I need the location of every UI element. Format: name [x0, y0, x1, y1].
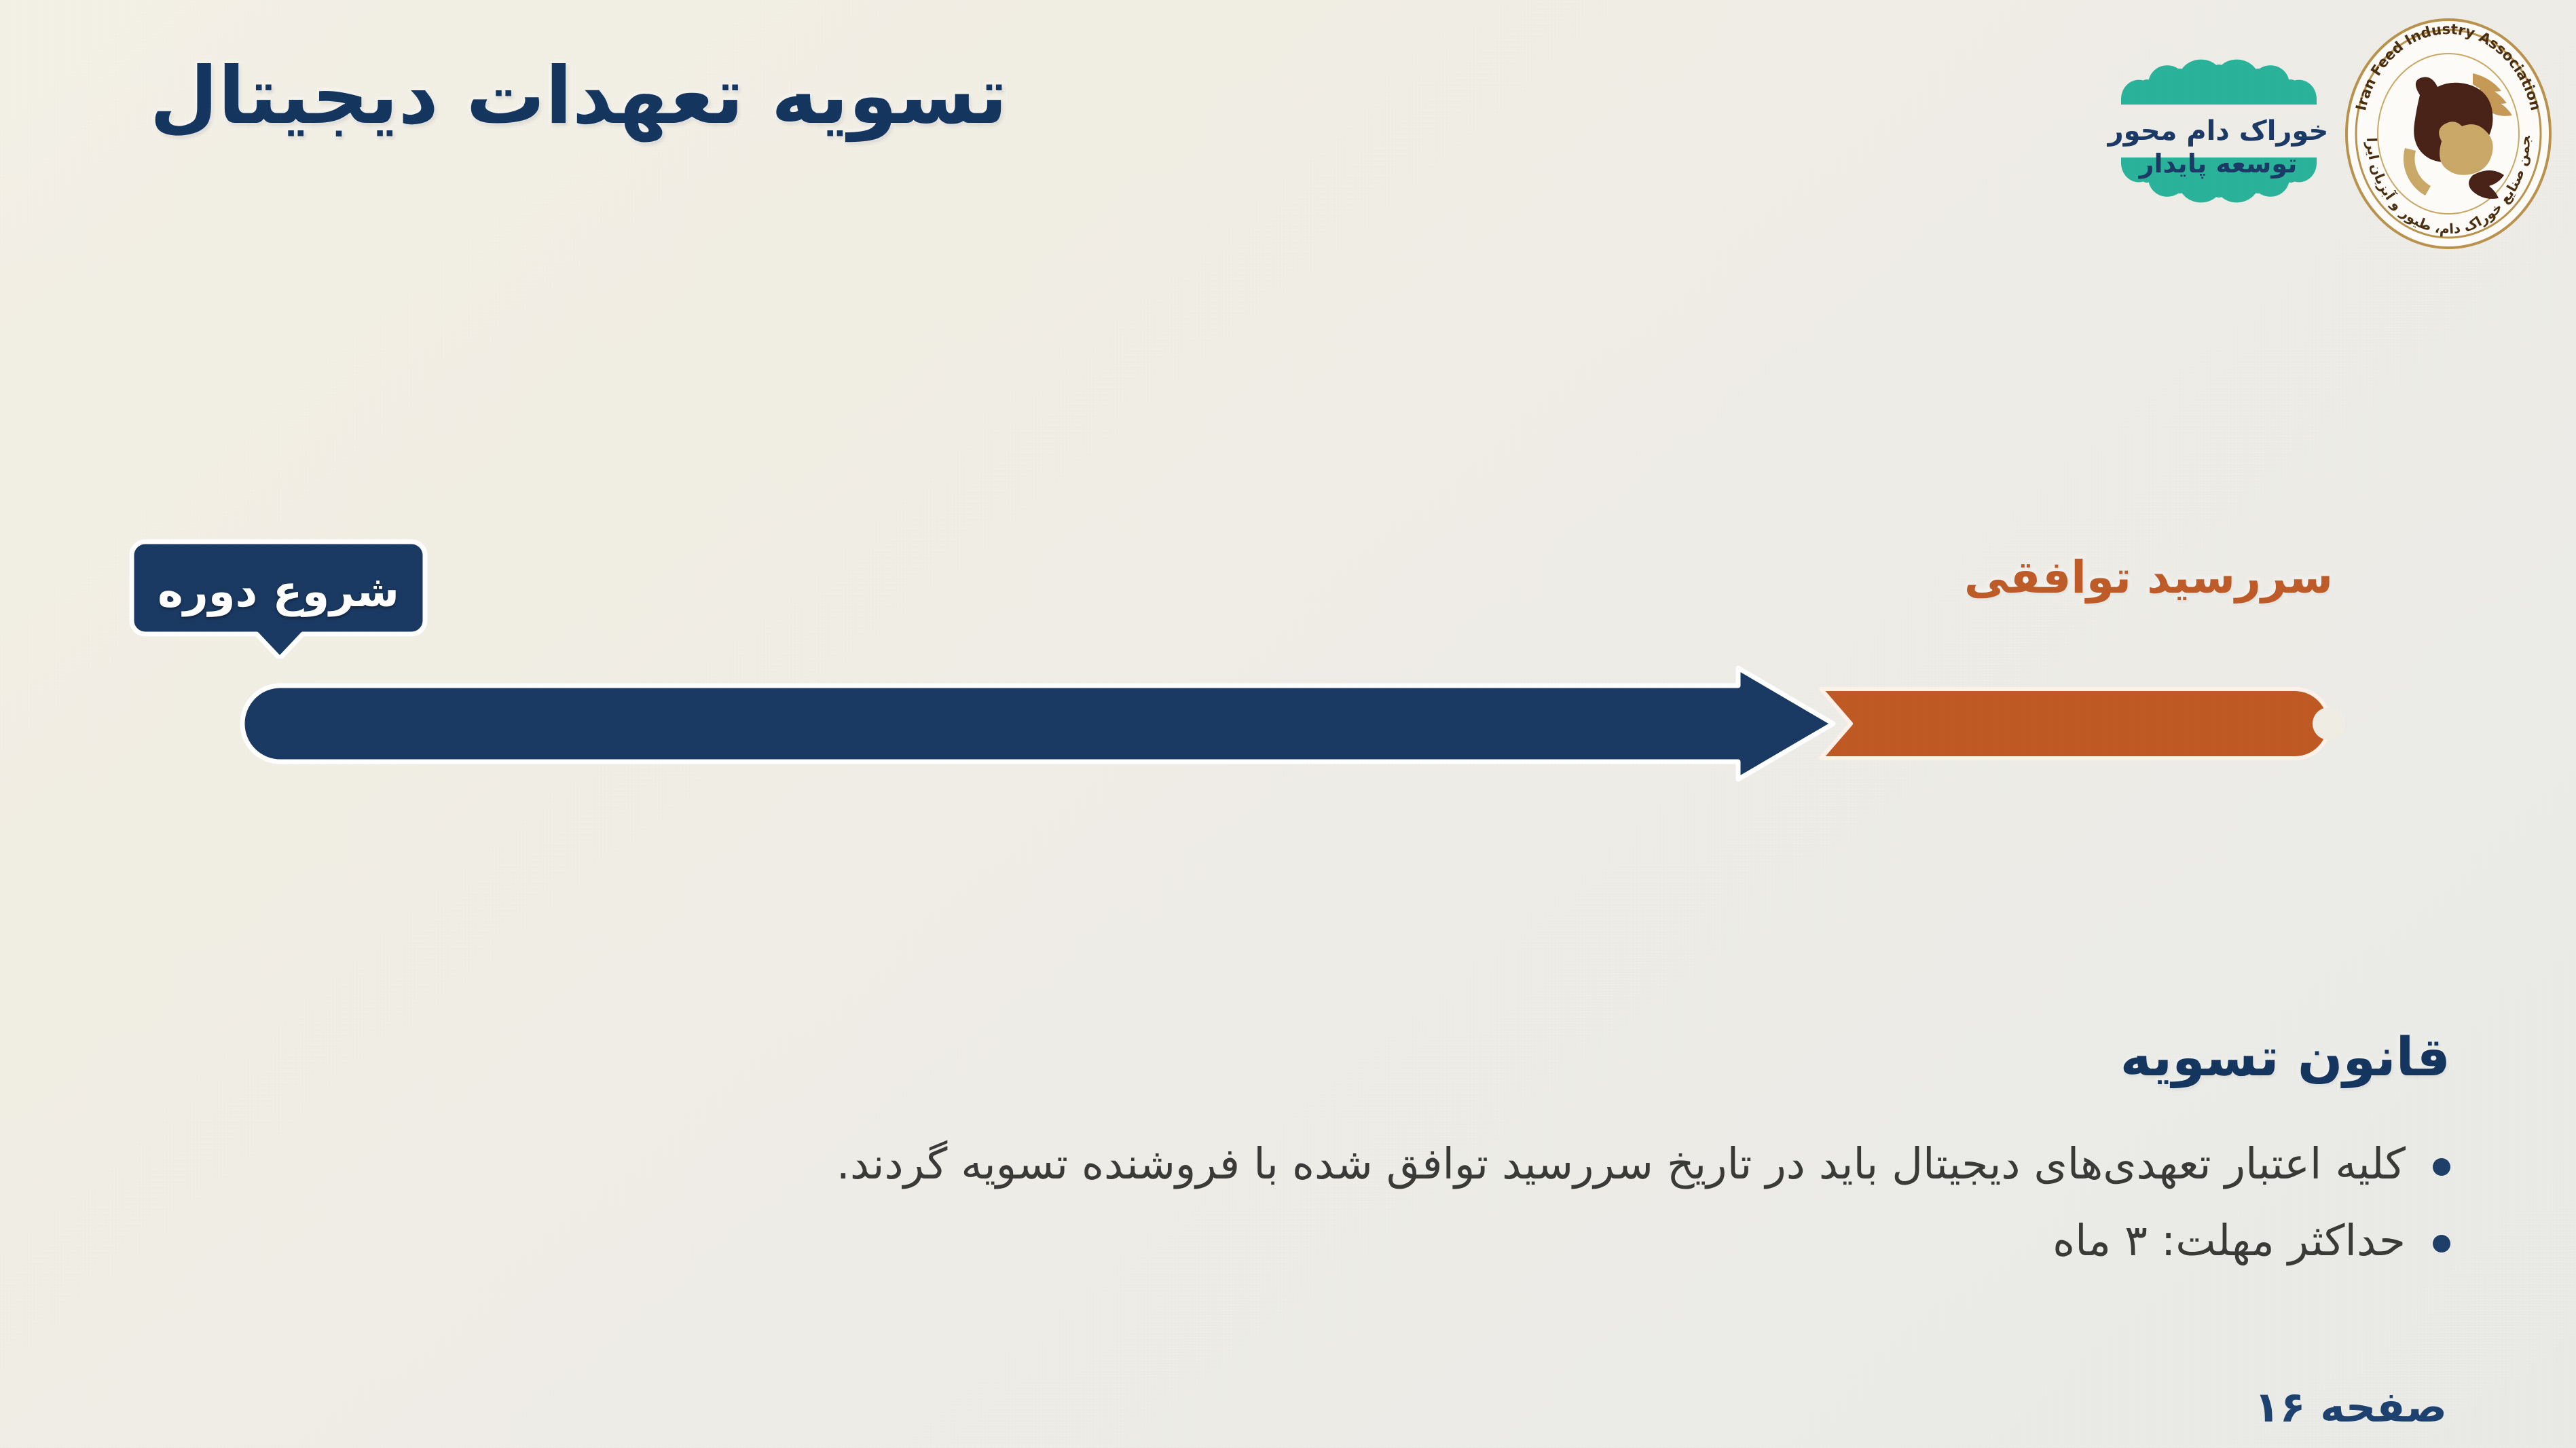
timeline-orange-segment	[1820, 688, 2370, 760]
bullet-dot-icon	[2433, 1235, 2450, 1252]
agreed-maturity-label: سررسید توافقی	[1964, 551, 2333, 604]
timeline-navy-segment	[241, 684, 1833, 763]
bullet-dot-icon	[2433, 1158, 2450, 1176]
settlement-rule-heading: قانون تسویه	[2120, 1027, 2450, 1088]
page-number: صفحه ۱۶	[2254, 1382, 2447, 1432]
settlement-rule-bullets: کلیه اعتبار تعهدی‌های دیجیتال باید در تا…	[475, 1135, 2450, 1288]
bullet-text: حداکثر مهلت: ۳ ماه	[2053, 1212, 2406, 1271]
list-item: کلیه اعتبار تعهدی‌های دیجیتال باید در تا…	[475, 1135, 2450, 1194]
bullet-text: کلیه اعتبار تعهدی‌های دیجیتال باید در تا…	[836, 1135, 2406, 1194]
agreed-maturity-endpoint-icon	[2313, 707, 2345, 740]
list-item: حداکثر مهلت: ۳ ماه	[475, 1212, 2450, 1271]
slide-canvas: تسویه تعهدات دیجیتال خوراک دام محور توسع…	[0, 0, 2576, 1448]
period-start-callout[interactable]	[129, 536, 428, 658]
